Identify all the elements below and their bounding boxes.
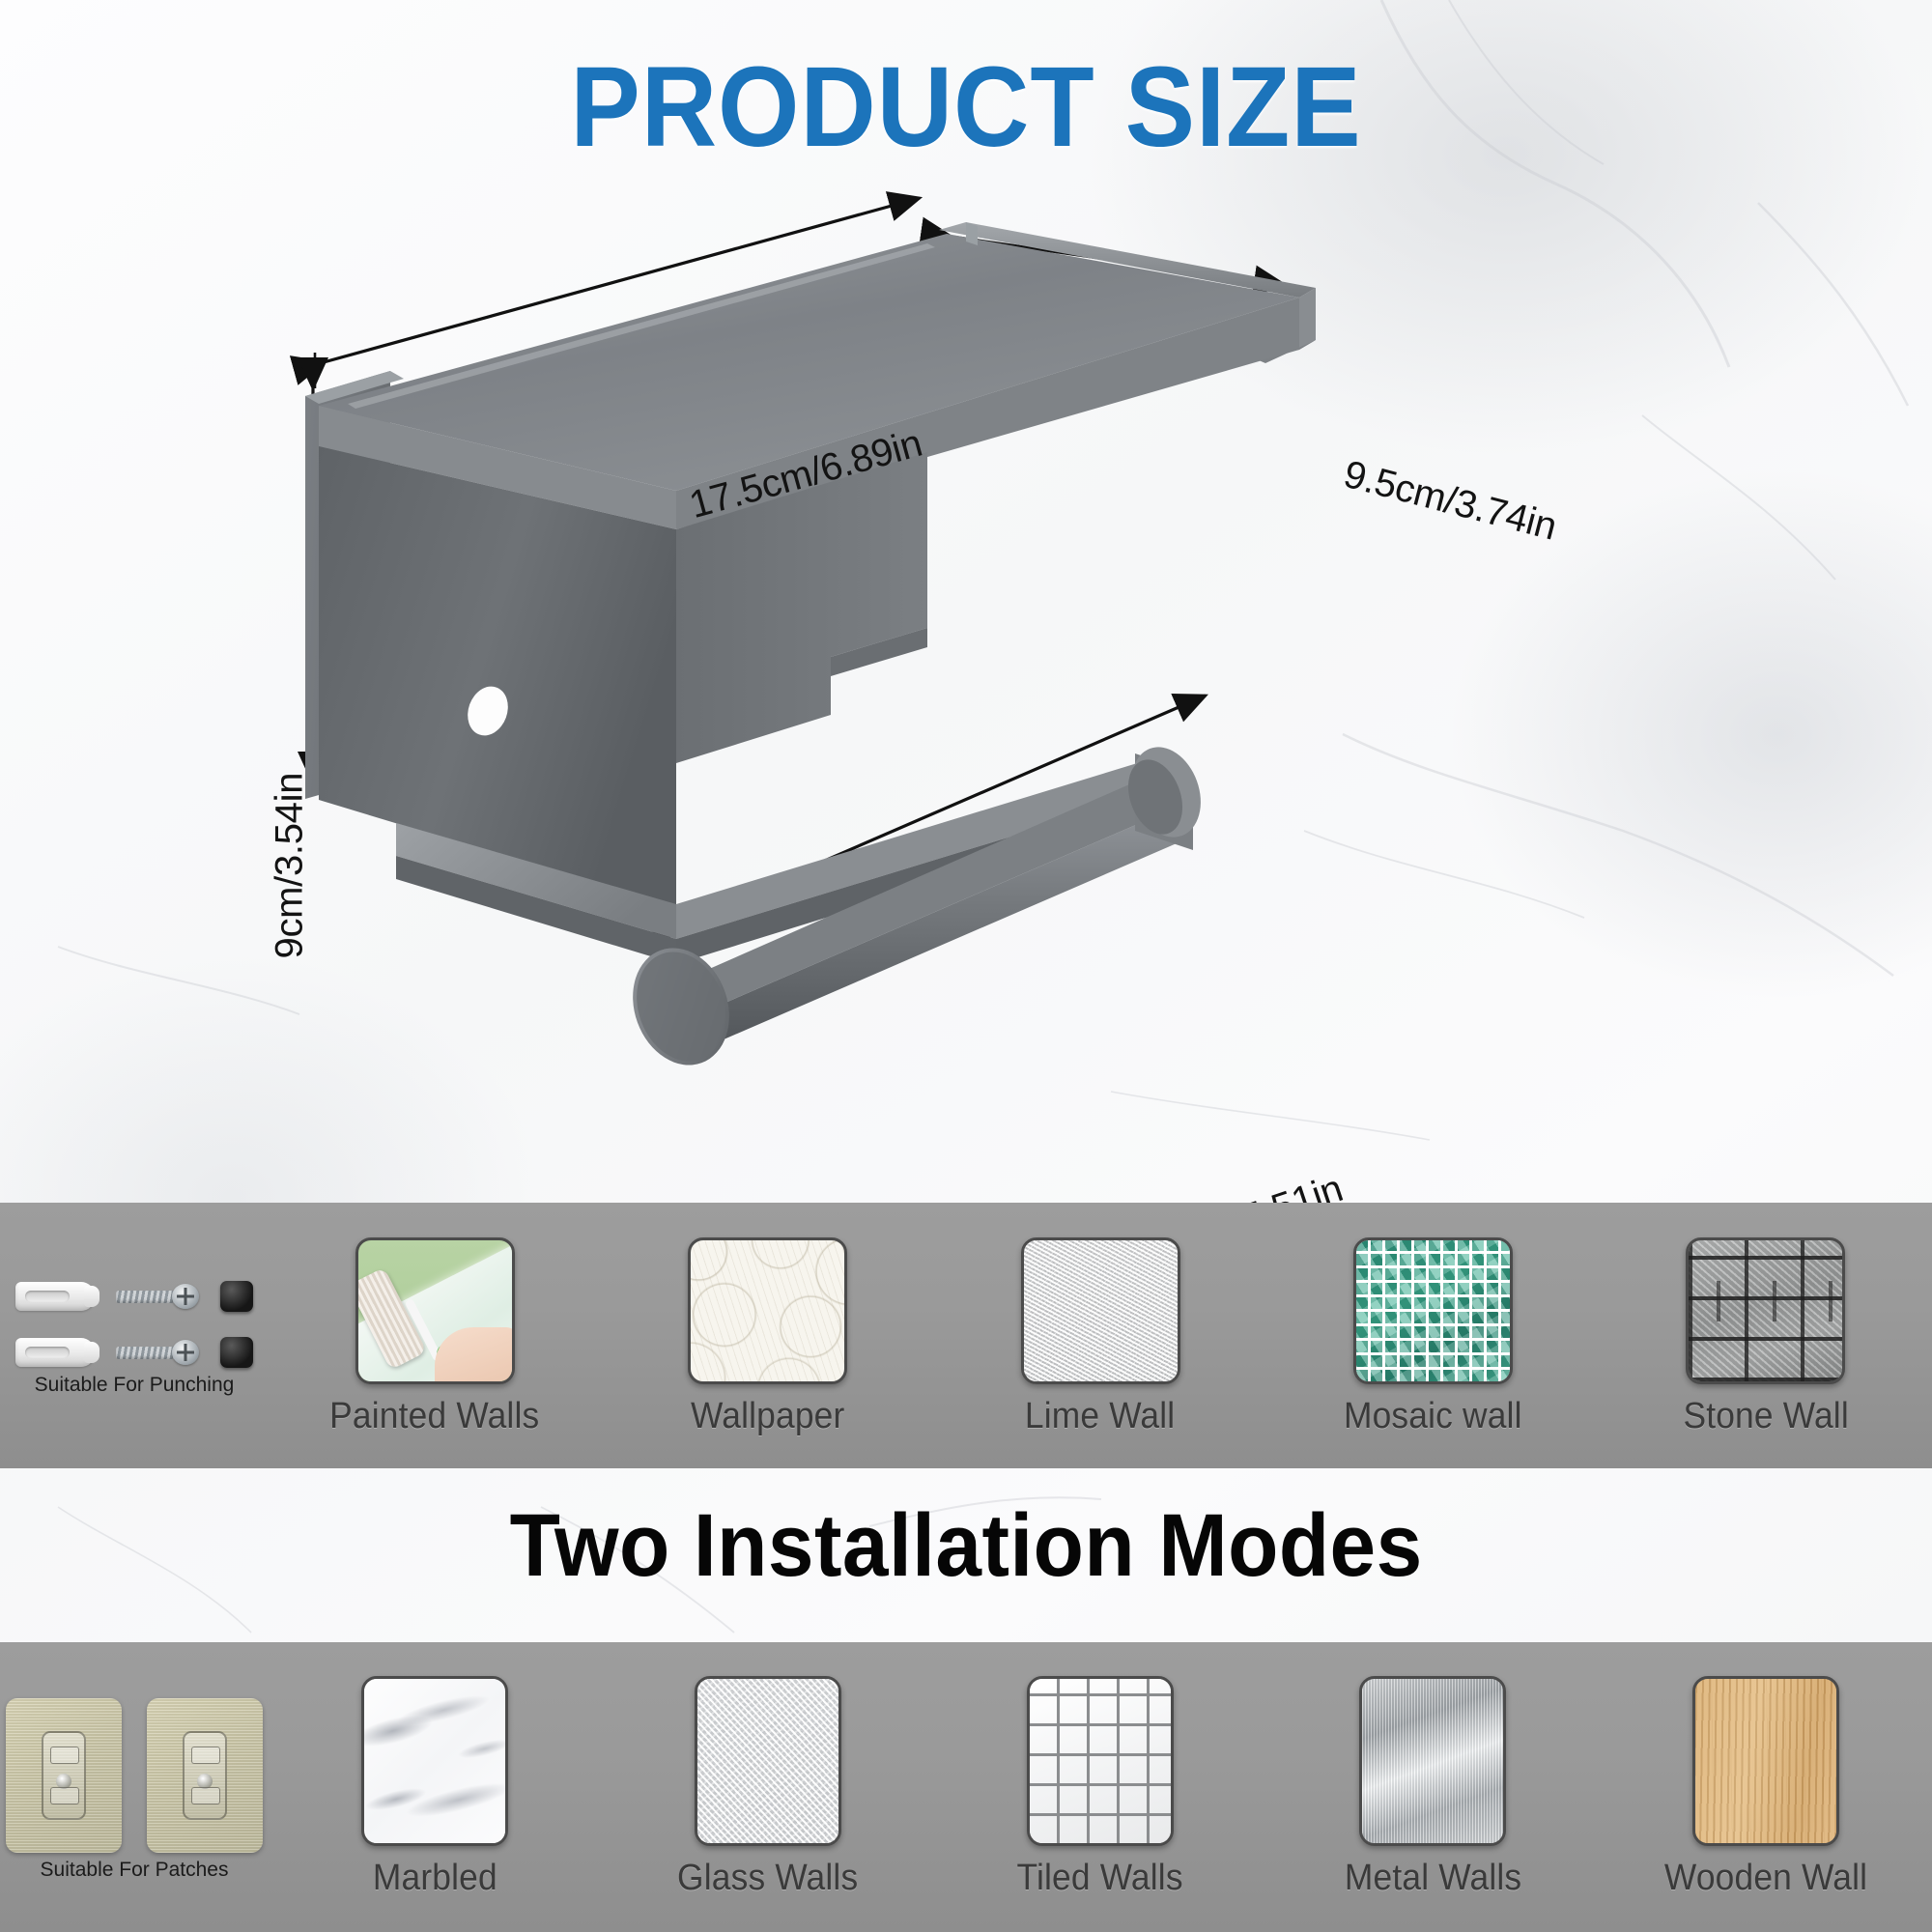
surface-label: Marbled [373,1858,497,1899]
wooden-wall-swatch-icon [1692,1676,1839,1846]
surface-item-stone-wall: Stone Wall [1600,1203,1932,1468]
installation-modes-heading-wrapper: Two Installation Modes [0,1495,1932,1597]
hardware-caption-punching: Suitable For Punching [35,1374,235,1397]
tiled-wall-swatch-icon [1027,1676,1174,1846]
hardware-kit-punching: Suitable For Punching [0,1203,269,1468]
surface-label: Glass Walls [677,1858,858,1899]
black-cap-icon [220,1281,253,1312]
surface-item-painted-walls: Painted Walls [269,1203,601,1468]
surface-item-marbled: Marbled [269,1642,601,1932]
surface-item-glass-walls: Glass Walls [601,1642,933,1932]
installation-modes-heading: Two Installation Modes [509,1495,1422,1597]
surface-label: Painted Walls [330,1396,540,1437]
product-illustration: 17.5cm/6.89in 9.5cm/3.74in 9cm/3.54in 8.… [0,174,1932,1150]
surface-label: Mosaic wall [1344,1396,1522,1437]
surface-item-metal-walls: Metal Walls [1266,1642,1599,1932]
adhesive-patch-icon [147,1698,263,1853]
surface-item-lime-wall: Lime Wall [934,1203,1266,1468]
dimension-label-height: 9cm/3.54in [269,773,312,959]
hardware-caption-patches: Suitable For Patches [41,1859,229,1882]
product-diagram-svg [0,174,1932,1150]
wall-anchor-icon [15,1282,95,1311]
surface-item-wallpaper: Wallpaper [601,1203,933,1468]
hardware-kit-patches: Suitable For Patches [0,1642,269,1932]
metal-wall-swatch-icon [1359,1676,1506,1846]
installation-strip-patches: Suitable For Patches Marbled Glass Walls… [0,1642,1932,1932]
stone-wall-swatch-icon [1686,1237,1845,1384]
hardware-row [15,1337,253,1368]
painted-wall-swatch-icon [355,1237,515,1384]
surface-label: Metal Walls [1345,1858,1521,1899]
glass-wall-swatch-icon [695,1676,841,1846]
black-cap-icon [220,1337,253,1368]
wallpaper-swatch-icon [688,1237,847,1384]
patch-row [6,1698,263,1853]
mosaic-wall-swatch-icon [1353,1237,1513,1384]
surface-label: Stone Wall [1683,1396,1848,1437]
page-title-wrapper: PRODUCT SIZE [0,50,1932,164]
page-title: PRODUCT SIZE [77,50,1855,164]
lime-wall-swatch-icon [1021,1237,1180,1384]
surface-item-mosaic-wall: Mosaic wall [1266,1203,1599,1468]
surface-label: Tiled Walls [1017,1858,1183,1899]
surface-label: Wallpaper [691,1396,844,1437]
surface-label: Lime Wall [1025,1396,1175,1437]
screw-icon [116,1284,199,1309]
hardware-row [15,1281,253,1312]
installation-strip-punching: Suitable For Punching Painted Walls Wall… [0,1203,1932,1468]
adhesive-patch-icon [6,1698,122,1853]
wall-anchor-icon [15,1338,95,1367]
hardware-rows [15,1281,253,1368]
surface-item-tiled-walls: Tiled Walls [934,1642,1266,1932]
surface-label: Wooden Wall [1664,1858,1867,1899]
marbled-swatch-icon [361,1676,508,1846]
screw-icon [116,1340,199,1365]
surface-item-wooden-wall: Wooden Wall [1600,1642,1932,1932]
infographic-page: PRODUCT SIZE [0,0,1932,1932]
